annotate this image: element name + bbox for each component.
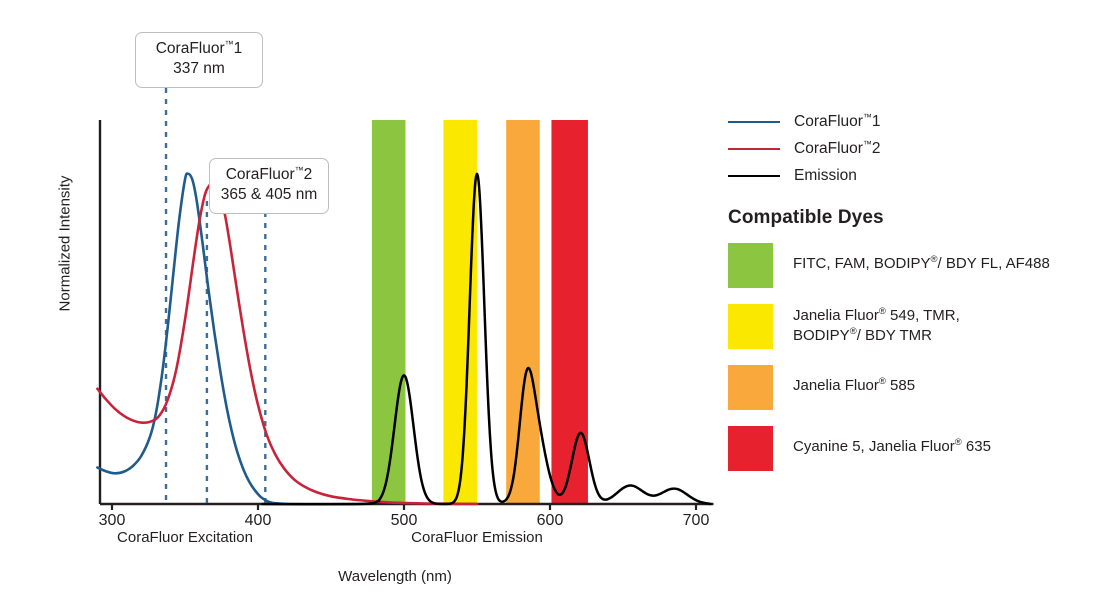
x-axis-label: Wavelength (nm) — [0, 568, 790, 585]
legend-series-label: CoraFluor™1 — [794, 113, 881, 131]
curve-corafluor2 — [97, 183, 477, 504]
dye-band-3 — [551, 120, 588, 504]
dye-color-swatch — [728, 365, 773, 410]
curve-corafluor1 — [97, 174, 287, 504]
y-axis-label: Normalized Intensity — [57, 164, 74, 324]
dye-band-0 — [372, 120, 406, 504]
dye-color-swatch — [728, 426, 773, 471]
compatible-dyes-list: FITC, FAM, BODIPY®/ BDY FL, AF488Janelia… — [728, 243, 1098, 471]
legend-line-swatch — [728, 121, 780, 123]
dye-color-swatch — [728, 304, 773, 349]
legend-series-label: CoraFluor™2 — [794, 140, 881, 158]
dye-band-2 — [506, 120, 540, 504]
x-tick-label-400: 400 — [228, 512, 288, 530]
legend-series-row: CoraFluor™1 — [728, 108, 1098, 135]
legend-series-row: Emission — [728, 162, 1098, 189]
dye-label: FITC, FAM, BODIPY®/ BDY FL, AF488 — [793, 243, 1050, 274]
x-axis-region-excitation: CoraFluor Excitation — [95, 529, 275, 546]
dye-label: Janelia Fluor® 549, TMR,BODIPY®/ BDY TMR — [793, 304, 960, 346]
x-axis-region-emission: CoraFluor Emission — [387, 529, 567, 546]
x-tick-label-500: 500 — [374, 512, 434, 530]
legend-line-swatch — [728, 148, 780, 150]
dye-color-swatch — [728, 243, 773, 288]
series-legend: CoraFluor™1CoraFluor™2Emission — [728, 108, 1098, 189]
callout-corafluor2-name: CoraFluor™2 — [220, 165, 318, 185]
legend-series-label: Emission — [794, 167, 857, 185]
x-tick-label-700: 700 — [666, 512, 726, 530]
callout-corafluor2-value: 365 & 405 nm — [220, 185, 318, 205]
dye-label: Janelia Fluor® 585 — [793, 365, 915, 396]
callout-corafluor1-name: CoraFluor™1 — [146, 39, 252, 59]
callout-corafluor1-value: 337 nm — [146, 59, 252, 79]
x-tick-label-600: 600 — [520, 512, 580, 530]
legend-panel: CoraFluor™1CoraFluor™2Emission Compatibl… — [728, 108, 1098, 487]
legend-series-row: CoraFluor™2 — [728, 135, 1098, 162]
callout-corafluor1: CoraFluor™1 337 nm — [135, 32, 263, 88]
x-tick-label-300: 300 — [82, 512, 142, 530]
dye-legend-row: Janelia Fluor® 549, TMR,BODIPY®/ BDY TMR — [728, 304, 1098, 349]
legend-line-swatch — [728, 175, 780, 177]
curve-emission — [262, 174, 710, 504]
callout-corafluor2: CoraFluor™2 365 & 405 nm — [209, 158, 329, 214]
fluorescence-spectra-chart: CoraFluor™1 337 nm CoraFluor™2 365 & 405… — [0, 0, 1110, 612]
dye-legend-row: Janelia Fluor® 585 — [728, 365, 1098, 410]
dye-legend-row: Cyanine 5, Janelia Fluor® 635 — [728, 426, 1098, 471]
compatible-dyes-title: Compatible Dyes — [728, 207, 1098, 229]
dye-band-1 — [443, 120, 477, 504]
dye-label: Cyanine 5, Janelia Fluor® 635 — [793, 426, 991, 457]
dye-legend-row: FITC, FAM, BODIPY®/ BDY FL, AF488 — [728, 243, 1098, 288]
